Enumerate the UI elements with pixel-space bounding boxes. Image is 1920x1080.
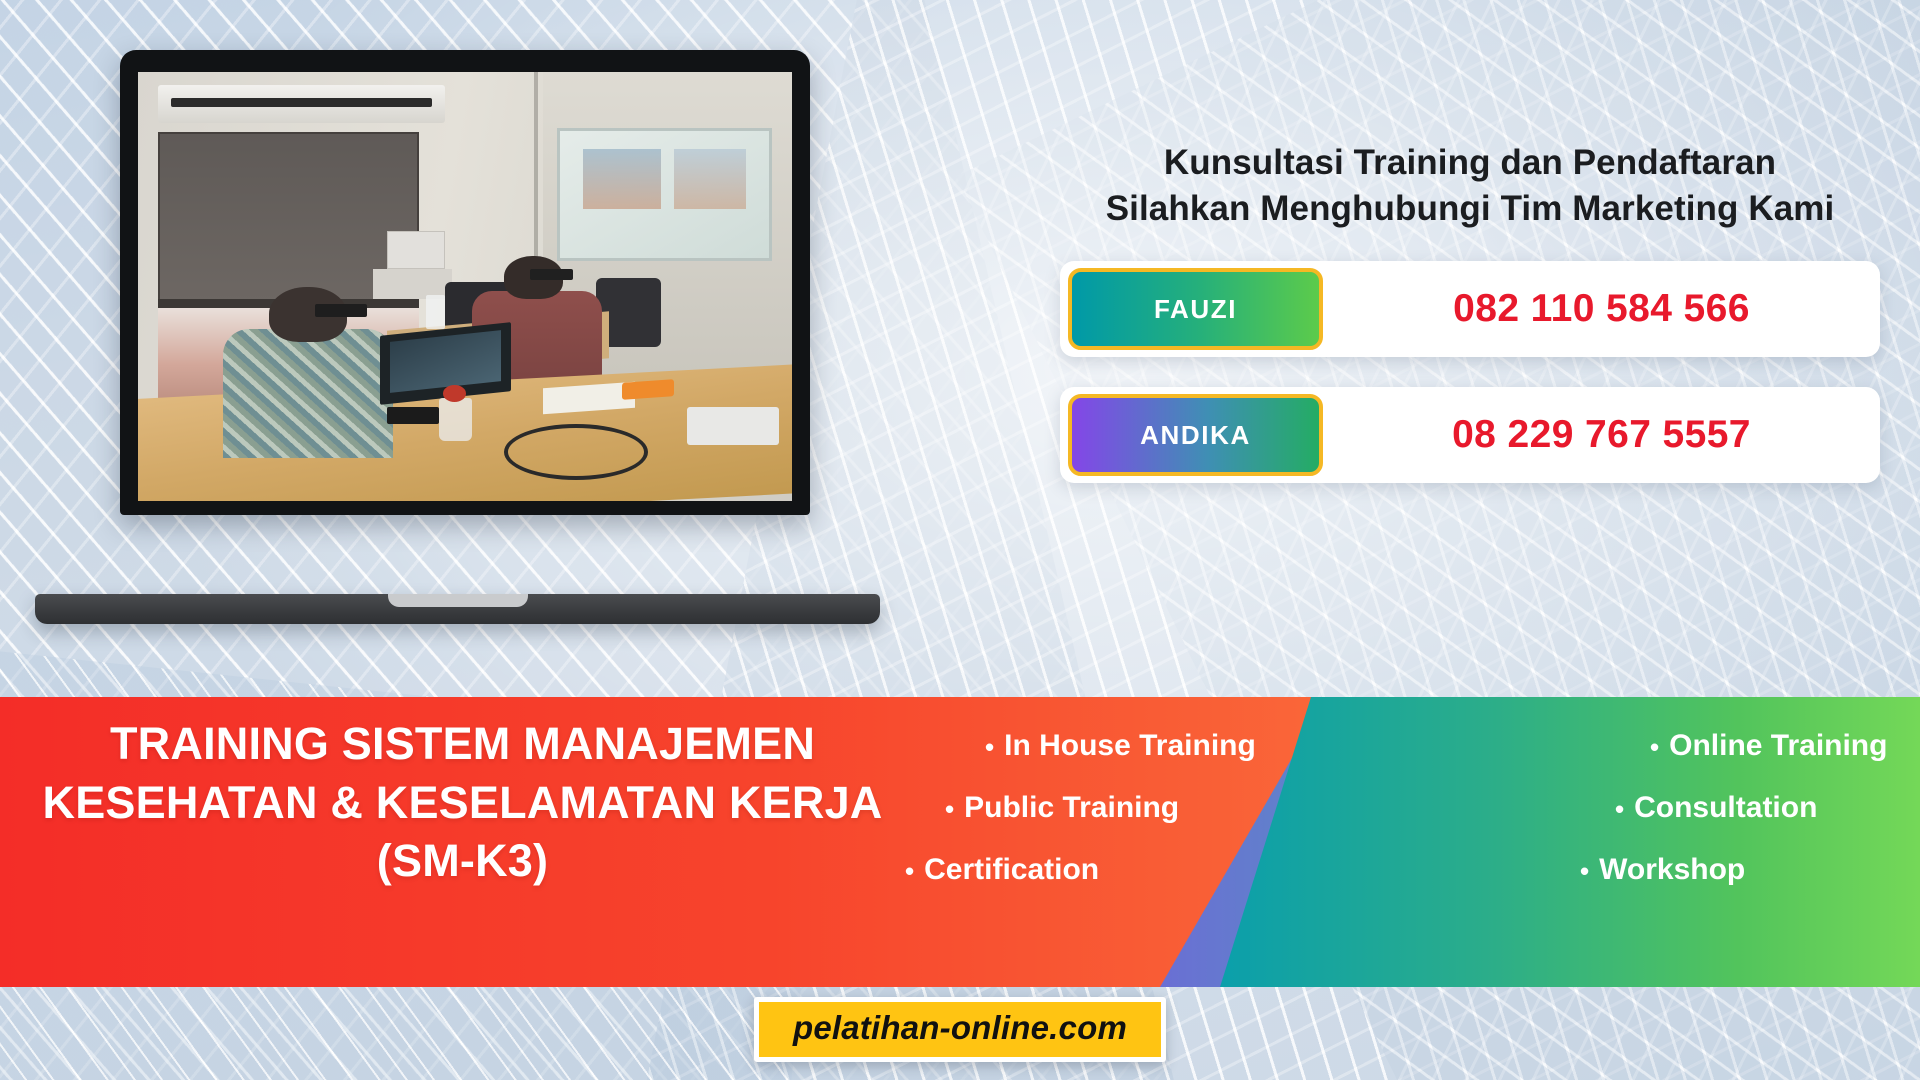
photo-equipment-box [387, 231, 446, 270]
service-item-consultation[interactable]: •Consultation [1390, 791, 1890, 825]
training-title-line2: KESEHATAN & KESELAMATAN KERJA [0, 774, 925, 833]
bullet-icon: • [1615, 794, 1624, 824]
service-label: Public Training [964, 791, 1179, 824]
service-label: Consultation [1634, 791, 1817, 824]
services-list: •In House Training •Online Training •Pub… [890, 729, 1890, 887]
photo-whiteboard-poster-1 [583, 149, 661, 209]
bullet-icon: • [1650, 732, 1659, 762]
service-item-in-house-training[interactable]: •In House Training [890, 729, 1390, 763]
laptop-trackpad-notch [388, 594, 528, 607]
contact-phone-andika[interactable]: 08 229 767 5557 [1323, 413, 1880, 457]
laptop-screen-photo [138, 72, 792, 501]
laptop-mockup [35, 50, 880, 660]
contact-panel: Kunsultasi Training dan Pendaftaran Sila… [1060, 140, 1880, 483]
contact-headline-line1: Kunsultasi Training dan Pendaftaran [1060, 140, 1880, 186]
service-item-workshop[interactable]: •Workshop [1390, 853, 1890, 887]
training-title: TRAINING SISTEM MANAJEMEN KESEHATAN & KE… [0, 715, 925, 891]
service-label: Workshop [1599, 853, 1745, 886]
website-badge[interactable]: pelatihan-online.com [754, 997, 1166, 1062]
contact-headline-line2: Silahkan Menghubungi Tim Marketing Kami [1060, 186, 1880, 232]
training-title-line1: TRAINING SISTEM MANAJEMEN [0, 715, 925, 774]
photo-participant-1-glasses [315, 304, 367, 317]
photo-glass [439, 398, 472, 441]
bottom-banner: TRAINING SISTEM MANAJEMEN KESEHATAN & KE… [0, 697, 1920, 987]
bullet-icon: • [905, 856, 914, 886]
laptop-lid [120, 50, 810, 515]
contact-phone-fauzi[interactable]: 082 110 584 566 [1323, 287, 1880, 331]
contact-headline: Kunsultasi Training dan Pendaftaran Sila… [1060, 140, 1880, 231]
contact-card-andika[interactable]: ANDIKA 08 229 767 5557 [1060, 387, 1880, 483]
service-label: Certification [924, 853, 1099, 886]
photo-participant-2-glasses [530, 269, 573, 279]
training-title-line3: (SM-K3) [0, 832, 925, 891]
photo-orange-marker [622, 379, 674, 400]
bullet-icon: • [1580, 856, 1589, 886]
laptop-base [35, 594, 880, 624]
website-url: pelatihan-online.com [793, 1009, 1127, 1046]
service-label: In House Training [1004, 729, 1256, 762]
service-item-online-training[interactable]: •Online Training [1390, 729, 1890, 763]
bullet-icon: • [985, 732, 994, 762]
photo-ac-vent [171, 98, 433, 107]
service-label: Online Training [1669, 729, 1887, 762]
photo-participant-1-body [223, 329, 393, 458]
contact-card-fauzi[interactable]: FAUZI 082 110 584 566 [1060, 261, 1880, 357]
photo-phone-on-table [387, 407, 439, 424]
photo-whiteboard-poster-2 [674, 149, 746, 209]
contact-name-badge-fauzi: FAUZI [1068, 268, 1323, 350]
photo-cable-coil [504, 424, 648, 480]
service-item-public-training[interactable]: •Public Training [890, 791, 1390, 825]
photo-bottle [426, 295, 446, 329]
contact-name-badge-andika: ANDIKA [1068, 394, 1323, 476]
photo-projector [687, 407, 779, 446]
bullet-icon: • [945, 794, 954, 824]
service-item-certification[interactable]: •Certification [890, 853, 1390, 887]
